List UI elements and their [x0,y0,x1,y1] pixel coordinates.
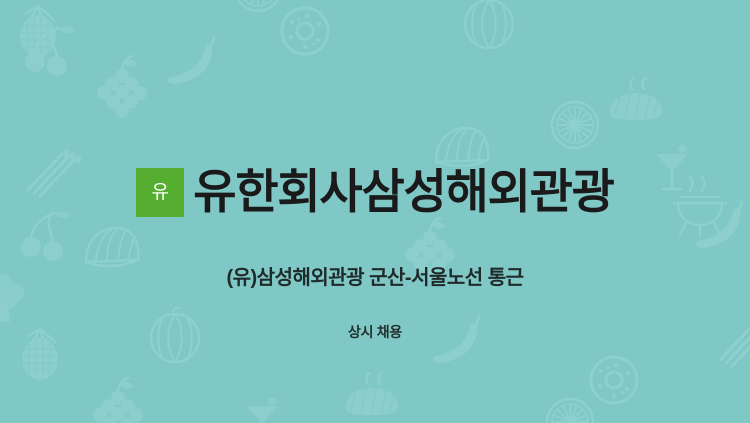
banner-content: 유 유한회사삼성해외관광 (유)삼성해외관광 군산-서울노선 통근 상시 채용 [0,0,750,423]
company-title-row: 유 유한회사삼성해외관광 [136,136,613,249]
company-logo-badge: 유 [136,168,184,217]
hiring-status: 상시 채용 [348,324,402,341]
company-name: 유한회사삼성해외관광 [193,167,613,217]
job-title: (유)삼성해외관광 군산-서울노선 통근 [226,266,523,290]
job-posting-banner: 유 유한회사삼성해외관광 (유)삼성해외관광 군산-서울노선 통근 상시 채용 [0,0,750,423]
company-logo-initial: 유 [152,183,169,202]
